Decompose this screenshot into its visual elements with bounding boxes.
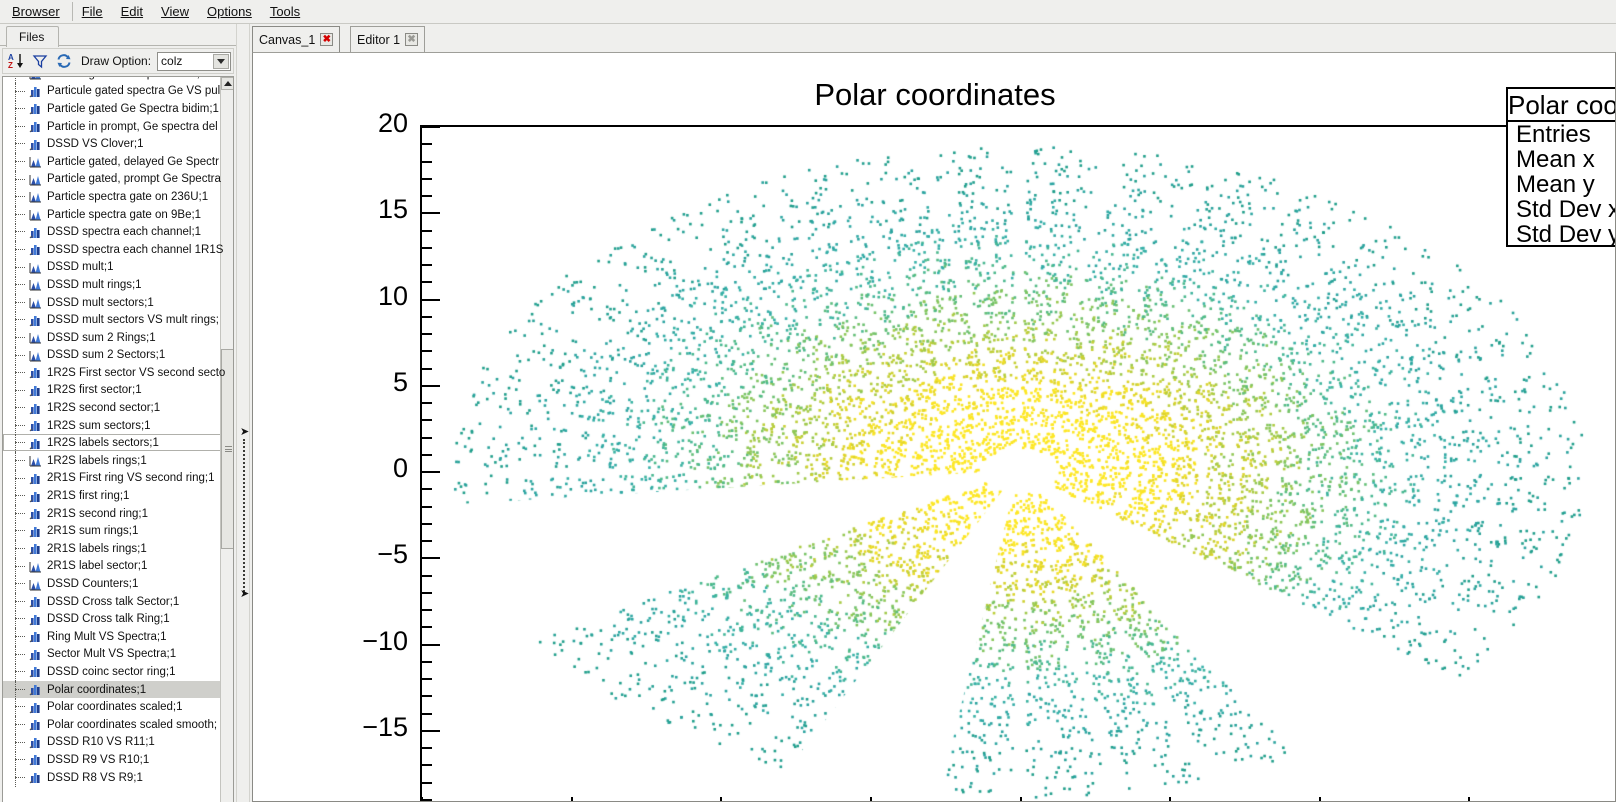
list-item[interactable]: DSSD VS Clover;1 [3, 135, 234, 153]
list-item-label: DSSD sum 2 Rings;1 [47, 332, 156, 344]
tree-connector [15, 724, 25, 725]
hist2d-icon [29, 683, 42, 696]
hist2d-icon [29, 753, 42, 766]
list-item-label: DSSD coinc sector ring;1 [47, 666, 175, 678]
y-axis-major-tick [422, 212, 440, 214]
list-item[interactable]: Sector Mult VS Spectra;1 [3, 646, 234, 664]
menu-item-edit[interactable]: Edit [112, 2, 152, 21]
tree-line [15, 364, 16, 382]
list-item[interactable]: DSSD R8 VS R9;1 [3, 769, 234, 787]
list-item[interactable]: Particle spectra gate on 236U;1 [3, 188, 234, 206]
canvas-tab-row: Canvas_1 ✖ Editor 1 ✖ [250, 24, 1616, 52]
menu-item-tools-label: Tools [270, 4, 300, 19]
x-axis-major-tick [1468, 797, 1470, 802]
tab-row-filler [66, 26, 236, 46]
list-item-label: DSSD spectra each channel 1R1S [47, 244, 223, 256]
refresh-icon[interactable] [55, 52, 73, 70]
hist2d-icon [29, 525, 42, 538]
tree-connector [15, 777, 25, 778]
x-axis-major-tick [1169, 797, 1171, 802]
list-item-label: Particle gated Ge Spectra R3;1 [47, 76, 206, 80]
y-axis-tick-label: −10 [328, 626, 408, 657]
close-icon[interactable]: ✖ [320, 33, 333, 46]
tree-line [15, 663, 16, 681]
menu-browser-text: Browser [12, 4, 60, 19]
list-item[interactable]: 1R2S First sector VS second secto [3, 364, 234, 382]
stats-row-std-dev-x: Std Dev x [1508, 197, 1616, 222]
list-item[interactable]: Particle gated, prompt Ge Spectra [3, 171, 234, 189]
splitter-arrow-down-icon[interactable]: ➤ [240, 590, 249, 599]
tree-line [15, 188, 16, 206]
draw-option-label: Draw Option: [81, 54, 151, 68]
tree-line [15, 505, 16, 523]
list-item[interactable]: 2R1S sum rings;1 [3, 522, 234, 540]
tree-line [15, 100, 16, 118]
list-item[interactable]: 1R2S second sector;1 [3, 399, 234, 417]
list-item-label: 2R1S first ring;1 [47, 490, 129, 502]
tree-connector [15, 196, 25, 197]
tree-connector [15, 91, 25, 92]
list-item-label: 2R1S label sector;1 [47, 560, 147, 572]
tree-connector [15, 601, 25, 602]
y-axis-minor-tick [422, 609, 432, 611]
y-axis-minor-tick [422, 419, 432, 421]
y-axis-minor-tick [422, 540, 432, 542]
tree-connector [15, 214, 25, 215]
menu-item-tools[interactable]: Tools [261, 2, 309, 21]
list-item-label: Ring Mult VS Spectra;1 [47, 631, 167, 643]
list-item[interactable]: DSSD mult rings;1 [3, 276, 234, 294]
close-icon[interactable]: ✖ [405, 33, 418, 46]
sort-az-icon[interactable]: A Z [7, 52, 25, 70]
tree-line [15, 171, 16, 189]
tree-connector [15, 407, 25, 408]
menu-item-view-label: View [161, 4, 189, 19]
tree-connector [15, 706, 25, 707]
hist1d-icon [29, 278, 42, 291]
tree-line [15, 311, 16, 329]
list-item-label: DSSD mult sectors VS mult rings; [47, 314, 219, 326]
tree-connector [15, 742, 25, 743]
list-item[interactable]: Ring Mult VS Spectra;1 [3, 628, 234, 646]
hist2d-icon [29, 402, 42, 415]
root-window: Browser File Edit View Options Tools Fil… [0, 0, 1616, 802]
splitter-dotted-line [243, 439, 245, 595]
list-item[interactable]: Particle spectra gate on 9Be;1 [3, 206, 234, 224]
hist2d-icon [29, 120, 42, 133]
chevron-down-icon[interactable] [213, 54, 229, 69]
hist2d-icon [29, 366, 42, 379]
hist2d-icon [29, 595, 42, 608]
tab-files-label: Files [19, 30, 44, 44]
y-axis-tick-label: 20 [328, 108, 408, 139]
tab-canvas-1[interactable]: Canvas_1 ✖ [252, 26, 340, 52]
list-item-label: 1R2S second sector;1 [47, 402, 160, 414]
y-axis-major-tick [422, 471, 440, 473]
list-item-label: Particle gated, delayed Ge Spectr [47, 156, 219, 168]
list-item[interactable]: DSSD sum 2 Rings;1 [3, 329, 234, 347]
hist1d-icon [29, 155, 42, 168]
list-item-label: DSSD mult;1 [47, 261, 113, 273]
list-item-label: 2R1S sum rings;1 [47, 525, 138, 537]
tree-line [15, 399, 16, 417]
tree-connector [15, 478, 25, 479]
tree-line [15, 329, 16, 347]
tree-line [15, 452, 16, 470]
tree-line [15, 118, 16, 136]
list-item[interactable]: Particle gated Ge Spectra bidim;1 [3, 100, 234, 118]
list-item-label: Polar coordinates scaled smooth; [47, 719, 217, 731]
list-item[interactable]: DSSD sum 2 Sectors;1 [3, 347, 234, 365]
list-item-label: DSSD Counters;1 [47, 578, 138, 590]
tab-editor-1-label: Editor 1 [357, 33, 400, 47]
list-item[interactable]: Particle gated Ge Spectra R3;1 [3, 76, 234, 83]
menu-item-file[interactable]: File [73, 2, 112, 21]
menu-browser-label[interactable]: Browser [2, 2, 73, 21]
list-item[interactable]: 2R1S label sector;1 [3, 558, 234, 576]
y-axis-major-tick [422, 730, 440, 732]
tree-connector [15, 583, 25, 584]
y-axis-minor-tick [422, 281, 432, 283]
y-axis-minor-tick [422, 230, 432, 232]
y-axis-minor-tick [422, 454, 432, 456]
y-axis-minor-tick [422, 506, 432, 508]
tree-connector [15, 636, 25, 637]
y-axis-minor-tick [422, 747, 432, 749]
canvas-area: Canvas_1 ✖ Editor 1 ✖ Polar coordinates … [250, 24, 1616, 802]
y-axis-tick-label: −15 [328, 712, 408, 743]
scrollbar-grip [225, 446, 232, 452]
y-axis-tick-label: 5 [328, 367, 408, 398]
y-axis-minor-tick [422, 368, 432, 370]
list-item[interactable]: DSSD R9 VS R10;1 [3, 751, 234, 769]
tree-connector [15, 671, 25, 672]
tree-connector [15, 302, 25, 303]
stats-row-entries: Entries [1508, 122, 1616, 147]
files-tree[interactable]: Particle gated Ge Spectra R3;1Particule … [2, 76, 234, 802]
root-canvas[interactable]: Polar coordinates 20151050−5−10−15−20−20… [252, 52, 1616, 802]
list-item[interactable]: Particle gated, delayed Ge Spectr [3, 153, 234, 171]
list-item-label: Polar coordinates scaled;1 [47, 701, 183, 713]
menu-item-options-label: Options [207, 4, 252, 19]
y-axis-minor-tick [422, 678, 432, 680]
list-item-label: DSSD Cross talk Ring;1 [47, 613, 170, 625]
list-item[interactable]: DSSD R10 VS R11;1 [3, 734, 234, 752]
hist1d-icon [29, 349, 42, 362]
hist1d-icon [29, 331, 42, 344]
tree-line [15, 206, 16, 224]
x-axis-major-tick [421, 797, 423, 802]
tree-connector [15, 654, 25, 655]
list-item[interactable]: 1R2S labels sectors;1 [3, 434, 234, 452]
hist1d-icon [29, 190, 42, 203]
list-item-label: Particle spectra gate on 9Be;1 [47, 209, 201, 221]
hist1d-icon [29, 296, 42, 309]
list-item[interactable]: Polar coordinates scaled smooth; [3, 716, 234, 734]
tree-connector [15, 267, 25, 268]
stats-box-title: Polar coordinates [1508, 89, 1616, 122]
y-axis-minor-tick [422, 161, 432, 163]
tree-line [15, 646, 16, 664]
tree-line [15, 716, 16, 734]
hist1d-icon [29, 454, 42, 467]
list-item-label: Particle gated Ge Spectra bidim;1 [47, 103, 219, 115]
list-item[interactable]: Polar coordinates;1 [3, 681, 234, 699]
y-axis-minor-tick [422, 575, 432, 577]
hist2d-icon [29, 718, 42, 731]
y-axis-minor-tick [422, 195, 432, 197]
draw-option-value: colz [158, 54, 182, 68]
y-axis-minor-tick [422, 488, 432, 490]
hist2d-icon [29, 771, 42, 784]
hist1d-icon [29, 560, 42, 573]
y-axis-minor-tick [422, 592, 432, 594]
hist2d-icon [29, 613, 42, 626]
y-axis-minor-tick [422, 437, 432, 439]
y-axis-minor-tick [422, 799, 432, 801]
y-axis-tick-label: −20 [328, 798, 408, 802]
hist2d-icon [29, 507, 42, 520]
y-axis-minor-tick [422, 626, 432, 628]
tree-line [15, 135, 16, 153]
tree-connector [15, 284, 25, 285]
list-item[interactable]: 1R2S sum sectors;1 [3, 417, 234, 435]
list-item-label: 1R2S labels sectors;1 [47, 437, 159, 449]
tree-line [15, 487, 16, 505]
tree-line [15, 610, 16, 628]
list-item-label: 1R2S sum sectors;1 [47, 420, 151, 432]
y-axis-minor-tick [422, 143, 432, 145]
hist2d-icon [29, 630, 42, 643]
tree-line [15, 751, 16, 769]
y-axis-minor-tick [422, 247, 432, 249]
hist2d-icon [29, 138, 42, 151]
y-axis-tick-label: 0 [328, 453, 408, 484]
y-axis-tick-label: −5 [328, 539, 408, 570]
list-item[interactable]: 2R1S second ring;1 [3, 505, 234, 523]
list-item-label: DSSD R8 VS R9;1 [47, 772, 143, 784]
tree-connector [15, 249, 25, 250]
y-axis-minor-tick [422, 782, 432, 784]
tree-line [15, 83, 16, 101]
list-item-label: 1R2S First sector VS second secto [47, 367, 225, 379]
tree-connector [15, 126, 25, 127]
list-item[interactable]: DSSD mult;1 [3, 259, 234, 277]
hist1d-icon [29, 578, 42, 591]
tree-connector [15, 425, 25, 426]
list-item-label: 1R2S first sector;1 [47, 384, 142, 396]
menu-item-options[interactable]: Options [198, 2, 261, 21]
hist2d-icon [29, 419, 42, 432]
list-item-label: DSSD mult rings;1 [47, 279, 142, 291]
tab-canvas-1-label: Canvas_1 [259, 33, 315, 47]
tree-line [15, 522, 16, 540]
menu-bar: Browser File Edit View Options Tools [0, 0, 1616, 24]
tree-connector [15, 689, 25, 690]
menu-item-edit-label: Edit [121, 4, 143, 19]
list-item-label: DSSD spectra each channel;1 [47, 226, 201, 238]
tree-line [15, 681, 16, 699]
list-item[interactable]: DSSD Cross talk Sector;1 [3, 593, 234, 611]
files-panel: Files A Z [0, 24, 236, 802]
tree-line [15, 417, 16, 435]
splitter-arrow-up-icon[interactable]: ➤ [240, 428, 249, 437]
list-item[interactable]: DSSD Counters;1 [3, 575, 234, 593]
y-axis-minor-tick [422, 402, 432, 404]
list-item[interactable]: 2R1S first ring;1 [3, 487, 234, 505]
list-item-label: Particle in prompt, Ge spectra del [47, 121, 218, 133]
tree-connector [15, 513, 25, 514]
y-axis-minor-tick [422, 316, 432, 318]
tree-connector [15, 337, 25, 338]
hist1d-icon [29, 208, 42, 221]
hist2d-icon [29, 701, 42, 714]
stats-row-std-dev-y: Std Dev y [1508, 222, 1616, 247]
stats-row-mean-x: Mean x [1508, 147, 1616, 172]
hist2d-icon [29, 102, 42, 115]
tree-connector [15, 108, 25, 109]
x-axis-major-tick [720, 797, 722, 802]
x-axis-major-tick [1020, 797, 1022, 802]
scroll-up-button[interactable] [221, 77, 234, 90]
list-item-label: DSSD R9 VS R10;1 [47, 754, 149, 766]
stats-box[interactable]: Polar coordinates Entries Mean x Mean y … [1506, 87, 1616, 247]
tree-line [15, 769, 16, 787]
list-item[interactable]: Particle in prompt, Ge spectra del [3, 118, 234, 136]
list-item-label: DSSD R10 VS R11;1 [47, 736, 155, 748]
list-item[interactable]: 2R1S First ring VS second ring;1 [3, 470, 234, 488]
tree-line [15, 698, 16, 716]
y-axis-major-tick [422, 557, 440, 559]
tree-connector [15, 390, 25, 391]
hist2d-icon [29, 384, 42, 397]
tree-line [15, 558, 16, 576]
tree-line [15, 294, 16, 312]
hist2d-icon [29, 437, 42, 450]
y-axis-minor-tick [422, 178, 432, 180]
list-item-label: 2R1S labels rings;1 [47, 543, 147, 555]
list-item-label: Sector Mult VS Spectra;1 [47, 648, 176, 660]
tree-connector [15, 566, 25, 567]
y-axis-minor-tick [422, 661, 432, 663]
filter-funnel-icon[interactable] [31, 52, 49, 70]
x-axis-major-tick [571, 797, 573, 802]
list-item[interactable]: 1R2S first sector;1 [3, 382, 234, 400]
list-item-label: DSSD sum 2 Sectors;1 [47, 349, 165, 361]
y-axis-minor-tick [422, 713, 432, 715]
list-item-label: 2R1S second ring;1 [47, 508, 148, 520]
scrollbar-thumb[interactable] [221, 349, 234, 549]
x-axis-major-tick [870, 797, 872, 802]
tab-files[interactable]: Files [6, 26, 59, 47]
y-axis-minor-tick [422, 764, 432, 766]
menu-item-file-label: File [82, 4, 103, 19]
tree-line [15, 734, 16, 752]
list-item[interactable]: DSSD spectra each channel 1R1S [3, 241, 234, 259]
tree-connector [15, 179, 25, 180]
stats-row-mean-y: Mean y [1508, 172, 1616, 197]
tree-line [15, 276, 16, 294]
svg-text:Z: Z [8, 61, 13, 70]
list-item[interactable]: DSSD spectra each channel;1 [3, 223, 234, 241]
files-tab-row: Files [0, 24, 236, 46]
tree-connector [15, 319, 25, 320]
y-axis-minor-tick [422, 333, 432, 335]
files-toolbar: A Z Draw Option: [2, 48, 234, 74]
menu-item-view[interactable]: View [152, 2, 198, 21]
y-axis-minor-tick [422, 523, 432, 525]
list-item[interactable]: Polar coordinates scaled;1 [3, 698, 234, 716]
x-axis-major-tick [1319, 797, 1321, 802]
tree-line [15, 434, 16, 452]
list-item[interactable]: Particule gated spectra Ge VS pul [3, 83, 234, 101]
files-tree-scrollbar[interactable] [220, 77, 233, 802]
y-axis-tick-label: 10 [328, 281, 408, 312]
tree-line [15, 593, 16, 611]
hist1d-icon [29, 76, 42, 80]
tab-editor-1[interactable]: Editor 1 ✖ [350, 26, 425, 52]
tree-connector [15, 372, 25, 373]
panel-splitter[interactable]: ➤ ➤ [236, 24, 250, 802]
tree-connector [15, 161, 25, 162]
tree-line [15, 153, 16, 171]
y-axis-minor-tick [422, 264, 432, 266]
hist1d-icon [29, 173, 42, 186]
tree-line [15, 347, 16, 365]
list-item-label: Particule gated spectra Ge VS pul [47, 85, 220, 97]
list-item-label: 2R1S First ring VS second ring;1 [47, 472, 214, 484]
hist2d-icon [29, 472, 42, 485]
y-axis-tick-label: 15 [328, 194, 408, 225]
tree-connector [15, 759, 25, 760]
list-item[interactable]: 1R2S labels rings;1 [3, 452, 234, 470]
list-item-label: Polar coordinates;1 [47, 684, 146, 696]
tree-line [15, 223, 16, 241]
list-item-label: DSSD mult sectors;1 [47, 297, 154, 309]
y-axis-major-tick [422, 644, 440, 646]
hist2d-icon [29, 314, 42, 327]
list-item[interactable]: 2R1S labels rings;1 [3, 540, 234, 558]
files-tree-items: Particle gated Ge Spectra R3;1Particule … [3, 76, 234, 786]
list-item[interactable]: DSSD mult sectors;1 [3, 294, 234, 312]
draw-option-select[interactable]: colz [157, 52, 231, 71]
y-axis-major-tick [422, 126, 440, 128]
hist2d-icon [29, 648, 42, 661]
tree-line [15, 259, 16, 277]
tree-connector [15, 460, 25, 461]
list-item[interactable]: DSSD Cross talk Ring;1 [3, 610, 234, 628]
list-item[interactable]: DSSD mult sectors VS mult rings; [3, 311, 234, 329]
tree-connector [15, 548, 25, 549]
hist1d-icon [29, 261, 42, 274]
tree-line [15, 470, 16, 488]
hist2d-icon [29, 243, 42, 256]
hist2d-icon [29, 490, 42, 503]
y-axis-major-tick [422, 385, 440, 387]
tree-line [15, 382, 16, 400]
tree-connector [15, 442, 25, 443]
list-item-label: 1R2S labels rings;1 [47, 455, 147, 467]
list-item-label: DSSD VS Clover;1 [47, 138, 144, 150]
list-item-label: DSSD Cross talk Sector;1 [47, 596, 179, 608]
tree-line [15, 575, 16, 593]
hist2d-icon [29, 542, 42, 555]
hist2d-icon [29, 226, 42, 239]
list-item-label: Particle spectra gate on 236U;1 [47, 191, 208, 203]
y-axis-minor-tick [422, 350, 432, 352]
tree-connector [15, 355, 25, 356]
list-item[interactable]: DSSD coinc sector ring;1 [3, 663, 234, 681]
